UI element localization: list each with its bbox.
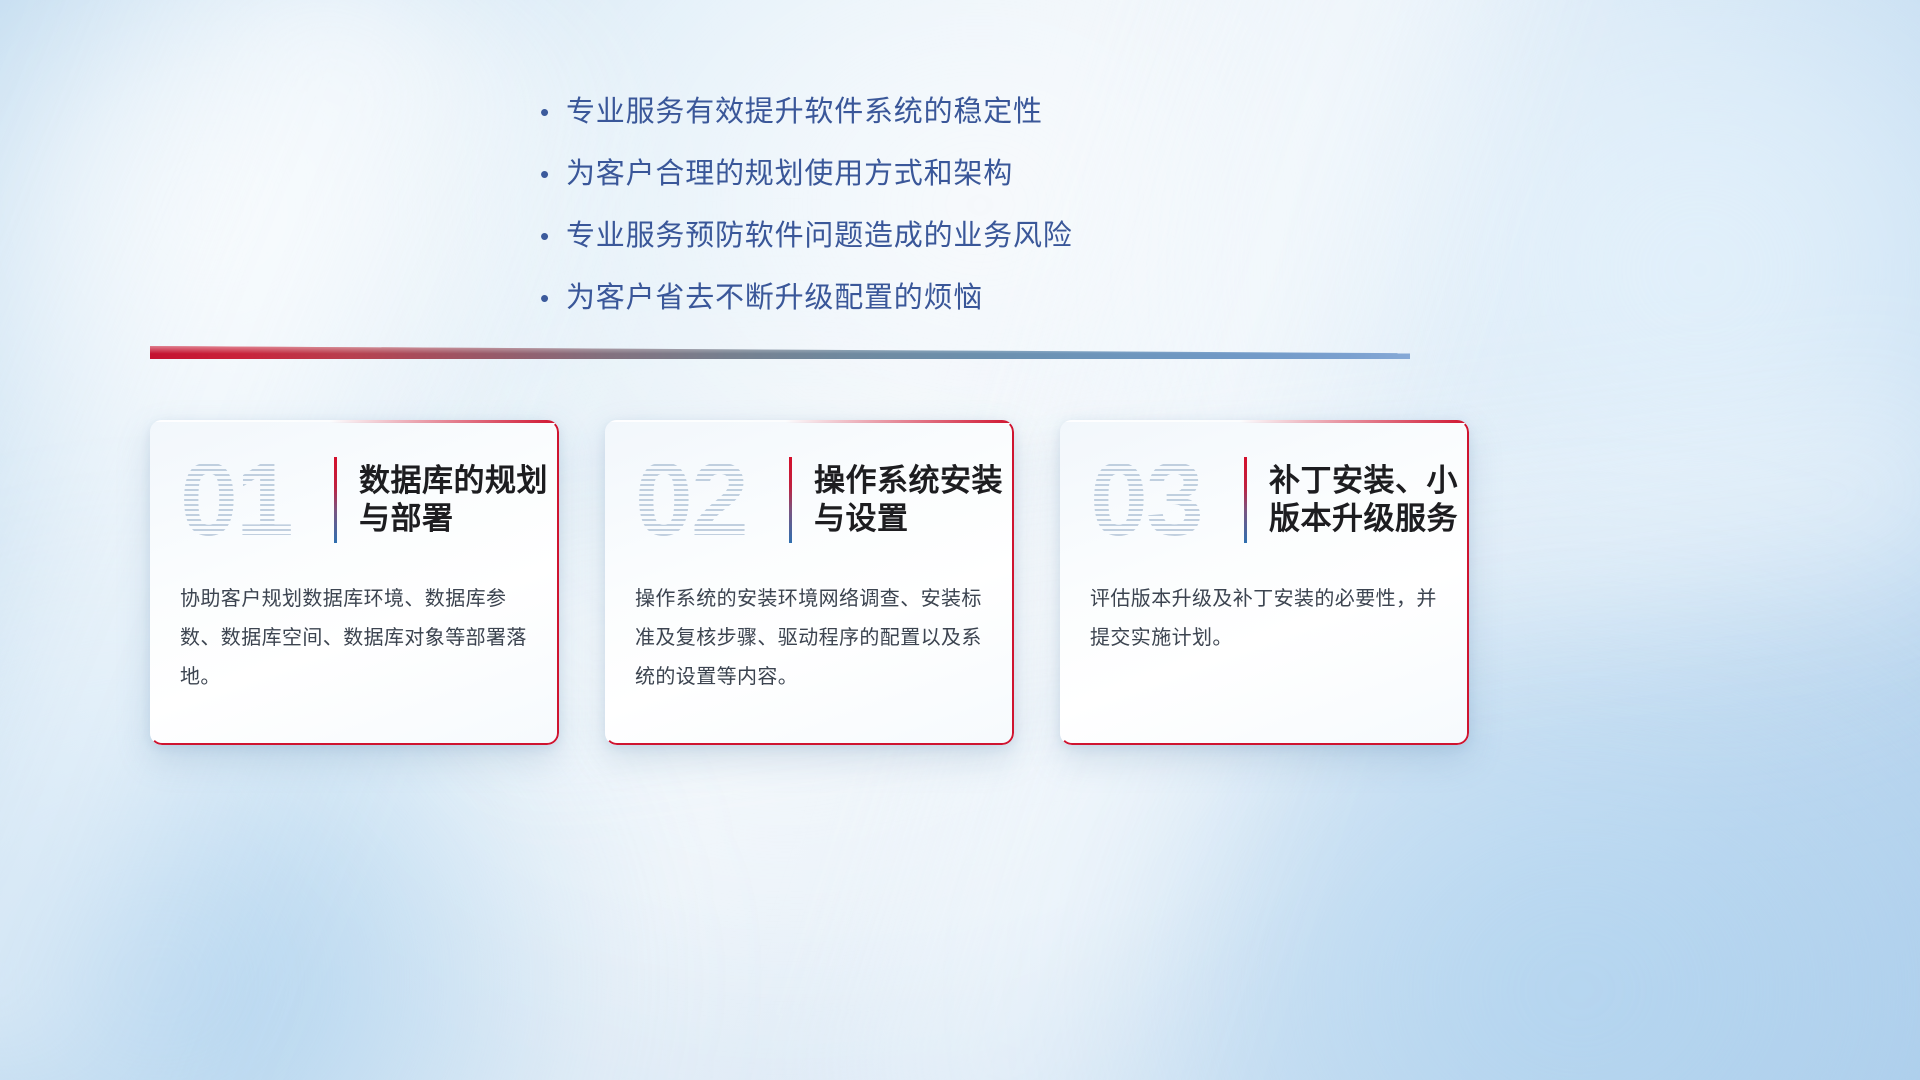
bullet-text: 专业服务有效提升软件系统的稳定性	[566, 94, 1043, 131]
bullet-marker-icon: •	[540, 161, 566, 187]
bullet-marker-icon: •	[540, 285, 566, 311]
card-02[interactable]: 02 操作系统安装 与设置 操作系统的安装环境网络调查、安装标准及复核步骤、驱动…	[605, 420, 1014, 745]
card-number-watermark: 01	[180, 444, 330, 556]
card-accent-bar	[1244, 457, 1247, 543]
card-number-watermark: 03	[1090, 444, 1240, 556]
card-header: 01 数据库的规划 与部署	[150, 420, 559, 580]
card-03[interactable]: 03 补丁安装、小 版本升级服务 评估版本升级及补丁安装的必要性，并提交实施计划…	[1060, 420, 1469, 745]
card-title: 操作系统安装 与设置	[814, 462, 1013, 539]
card-header: 02 操作系统安装 与设置	[605, 420, 1014, 580]
divider-highlight	[150, 346, 1410, 359]
list-item: • 为客户合理的规划使用方式和架构	[540, 156, 1440, 193]
bullet-marker-icon: •	[540, 99, 566, 125]
card-body: 协助客户规划数据库环境、数据库参数、数据库空间、数据库对象等部署落地。	[150, 580, 559, 697]
list-item: • 为客户省去不断升级配置的烦恼	[540, 280, 1440, 317]
card-title: 数据库的规划 与部署	[359, 462, 558, 539]
card-accent-bar	[789, 457, 792, 543]
card-group: 01 数据库的规划 与部署 协助客户规划数据库环境、数据库参数、数据库空间、数据…	[150, 420, 1470, 745]
bullet-marker-icon: •	[540, 223, 566, 249]
card-number-watermark: 02	[635, 444, 785, 556]
card-body-text: 操作系统的安装环境网络调查、安装标准及复核步骤、驱动程序的配置以及系统的设置等内…	[635, 580, 984, 697]
card-01[interactable]: 01 数据库的规划 与部署 协助客户规划数据库环境、数据库参数、数据库空间、数据…	[150, 420, 559, 745]
bullet-text: 为客户省去不断升级配置的烦恼	[566, 280, 983, 317]
card-accent-bar	[334, 457, 337, 543]
bullet-list: • 专业服务有效提升软件系统的稳定性 • 为客户合理的规划使用方式和架构 • 专…	[540, 94, 1440, 342]
card-body: 评估版本升级及补丁安装的必要性，并提交实施计划。	[1060, 580, 1469, 658]
card-title: 补丁安装、小 版本升级服务	[1269, 462, 1468, 539]
list-item: • 专业服务预防软件问题造成的业务风险	[540, 218, 1440, 255]
card-body-text: 协助客户规划数据库环境、数据库参数、数据库空间、数据库对象等部署落地。	[180, 580, 529, 697]
card-header: 03 补丁安装、小 版本升级服务	[1060, 420, 1469, 580]
list-item: • 专业服务有效提升软件系统的稳定性	[540, 94, 1440, 131]
section-divider	[150, 346, 1410, 364]
bullet-text: 为客户合理的规划使用方式和架构	[566, 156, 1013, 193]
card-body-text: 评估版本升级及补丁安装的必要性，并提交实施计划。	[1090, 580, 1439, 658]
bullet-text: 专业服务预防软件问题造成的业务风险	[566, 218, 1073, 255]
card-body: 操作系统的安装环境网络调查、安装标准及复核步骤、驱动程序的配置以及系统的设置等内…	[605, 580, 1014, 697]
